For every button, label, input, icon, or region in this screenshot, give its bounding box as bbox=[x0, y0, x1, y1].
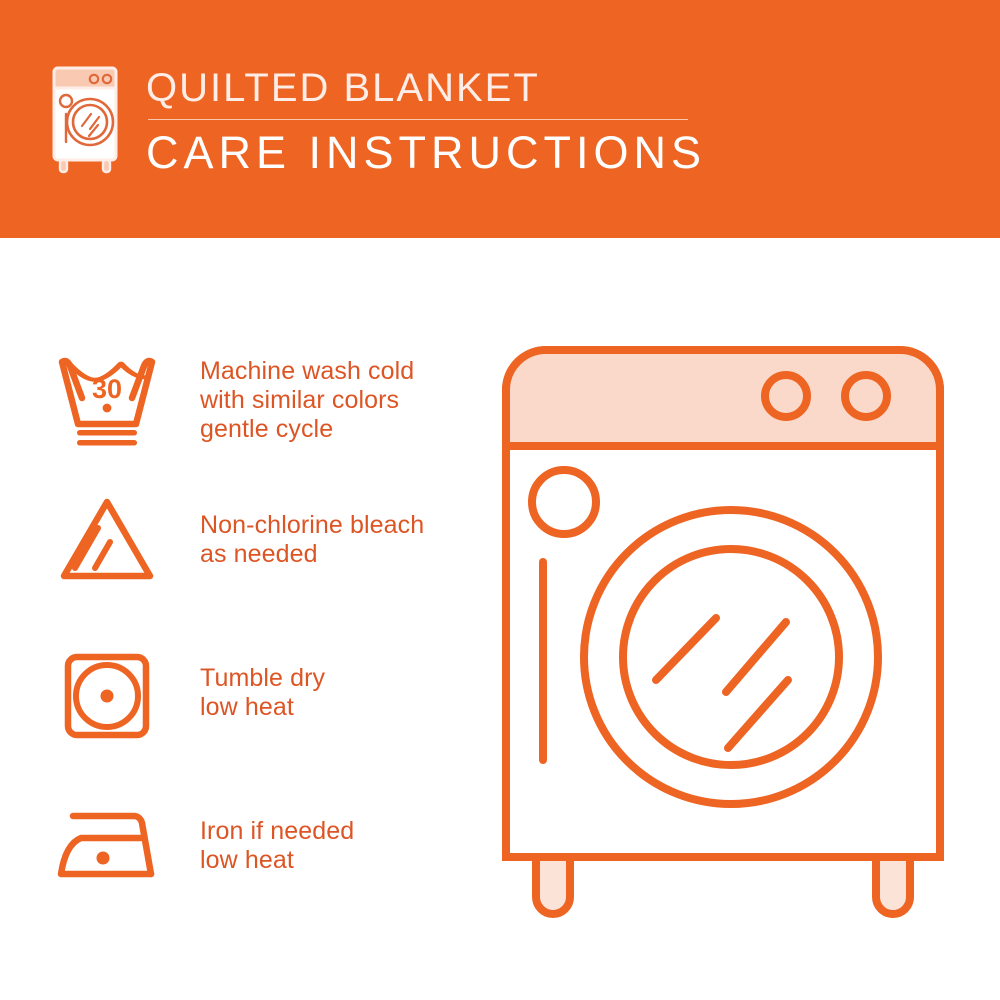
header-band: QUILTED BLANKET CARE INSTRUCTIONS bbox=[0, 0, 1000, 238]
header-title-block: QUILTED BLANKET CARE INSTRUCTIONS bbox=[146, 60, 706, 178]
iron-low-heat-icon bbox=[52, 796, 162, 896]
leg-right bbox=[876, 857, 910, 914]
care-instruction-item: Tumble dry low heat bbox=[52, 643, 482, 743]
care-instruction-label: Machine wash cold with similar colors ge… bbox=[200, 357, 414, 444]
leg-left bbox=[536, 857, 570, 914]
washing-machine-icon bbox=[44, 60, 128, 180]
care-instructions-page: QUILTED BLANKET CARE INSTRUCTIONS 30 bbox=[0, 0, 1000, 1000]
wash-basin-30-gentle-icon: 30 bbox=[52, 350, 162, 450]
care-instruction-item: 30 Machine wash cold with similar colors… bbox=[52, 350, 482, 450]
page-title-secondary: CARE INSTRUCTIONS bbox=[146, 128, 706, 178]
tumble-dry-low-heat-icon bbox=[52, 643, 162, 743]
care-instruction-item: Non-chlorine bleach as needed bbox=[52, 490, 482, 590]
washing-machine-illustration bbox=[488, 330, 958, 930]
care-instruction-label: Non-chlorine bleach as needed bbox=[200, 511, 424, 569]
wash-temperature-value: 30 bbox=[92, 374, 122, 404]
title-divider bbox=[148, 119, 688, 120]
care-instruction-label: Iron if needed low heat bbox=[200, 817, 354, 875]
care-instruction-label: Tumble dry low heat bbox=[200, 664, 325, 722]
control-panel bbox=[506, 350, 940, 446]
header-content: QUILTED BLANKET CARE INSTRUCTIONS bbox=[44, 60, 706, 180]
care-instruction-item: Iron if needed low heat bbox=[52, 796, 482, 896]
non-chlorine-bleach-triangle-icon bbox=[52, 490, 162, 590]
care-instruction-list: 30 Machine wash cold with similar colors… bbox=[0, 238, 500, 1000]
page-title-primary: QUILTED BLANKET bbox=[146, 66, 706, 110]
